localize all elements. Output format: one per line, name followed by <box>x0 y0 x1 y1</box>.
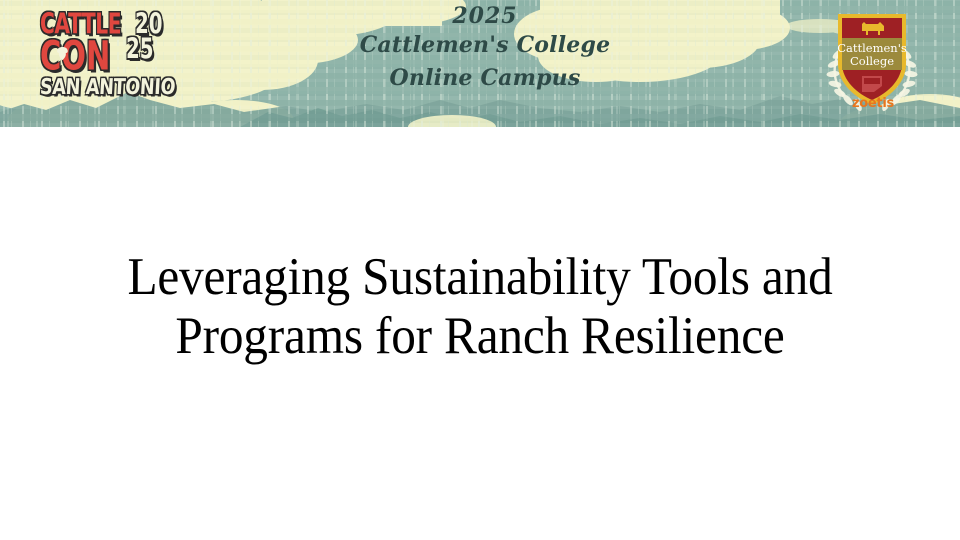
cattlecon-logo: CATTLE 20 CON 25 SAN ANTONIO <box>40 14 172 110</box>
slide-banner: CATTLE 20 CON 25 SAN ANTONIO 2025 Cattle… <box>0 0 960 127</box>
slide-title-line-2: Programs for Ranch Resilience <box>89 307 870 366</box>
cow-skull-icon <box>57 46 68 61</box>
cattlecon-word-con: CON <box>40 35 110 75</box>
cattlecon-word-con-text: CON <box>40 32 110 80</box>
zoetis-sponsor-logo: zoetis <box>852 96 922 111</box>
cattlecon-logo-row-2: CON 25 <box>40 39 172 72</box>
banner-year: 2025 <box>330 4 640 29</box>
presentation-slide: CATTLE 20 CON 25 SAN ANTONIO 2025 Cattle… <box>0 0 960 540</box>
banner-subtitle-line-2: Online Campus <box>330 62 640 95</box>
slide-title-line-1: Leveraging Sustainability Tools and <box>89 248 870 307</box>
slide-title: Leveraging Sustainability Tools and Prog… <box>60 248 900 367</box>
cattlecon-year-25: 25 <box>126 36 154 65</box>
badge-text-line-2: College <box>850 54 894 68</box>
badge-text-line-1: Cattlemen's <box>837 41 907 55</box>
banner-subtitle-line-1: Cattlemen's College <box>330 29 640 62</box>
banner-center-text: 2025 Cattlemen's College Online Campus <box>330 4 640 95</box>
cattlecon-city-label: SAN ANTONIO <box>39 74 163 99</box>
